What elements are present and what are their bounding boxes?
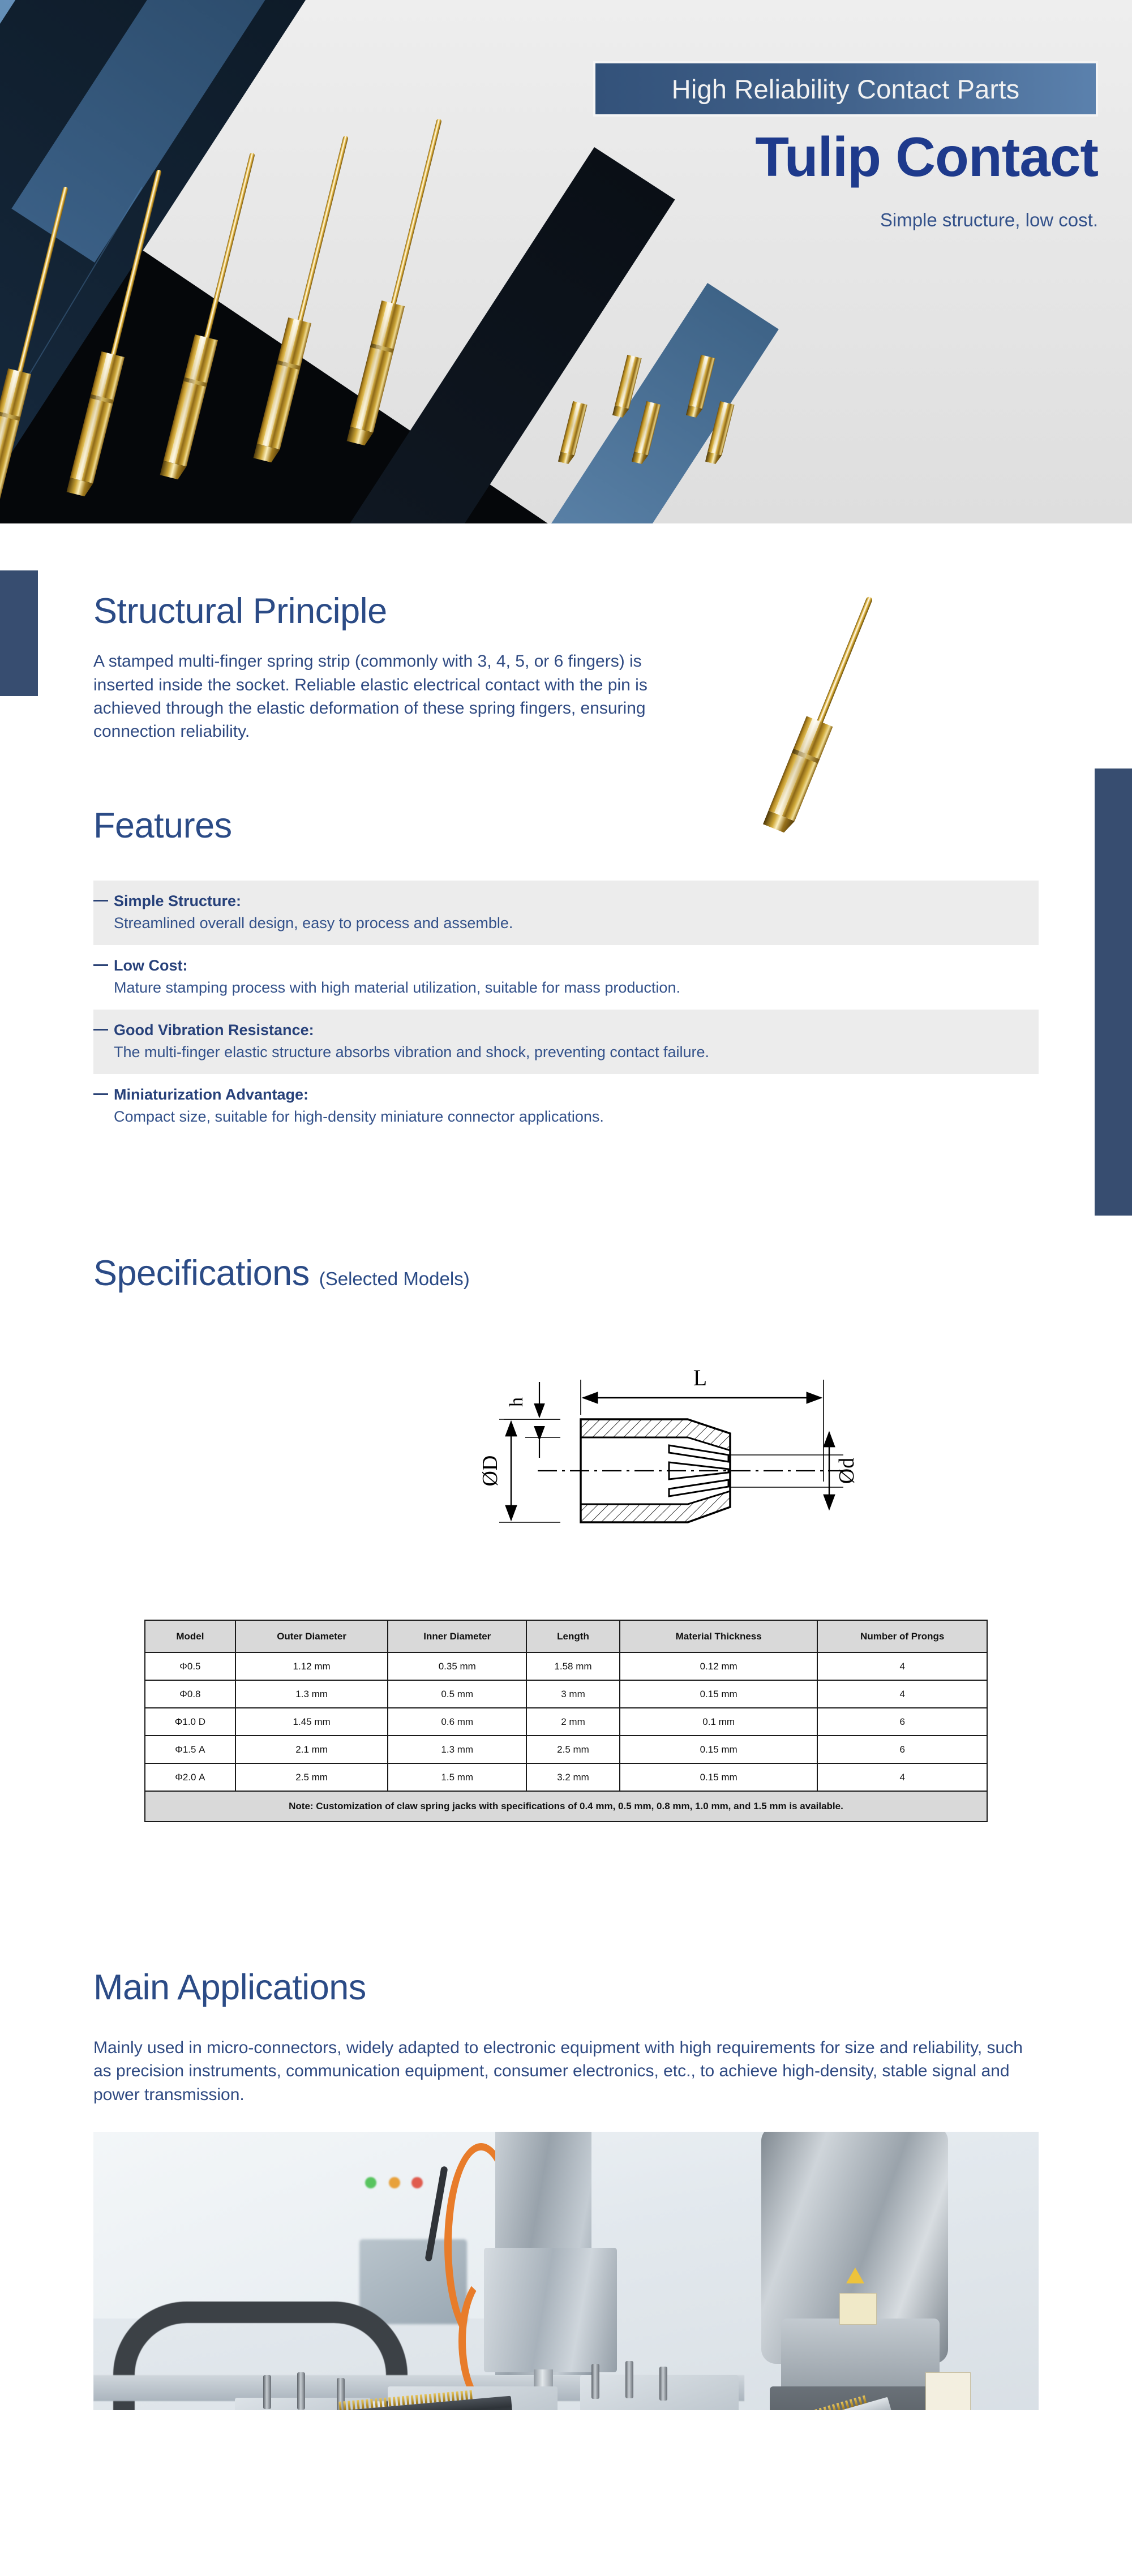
table-row: Φ1.0 D 1.45 mm 0.6 mm 2 mm 0.1 mm 6 bbox=[145, 1708, 987, 1736]
feature-heading-label: Low Cost: bbox=[114, 957, 187, 974]
accent-bar-right bbox=[1095, 768, 1132, 1216]
table-header-row: Model Outer Diameter Inner Diameter Leng… bbox=[145, 1620, 987, 1652]
feature-description: The multi-finger elastic structure absor… bbox=[93, 1044, 1039, 1061]
cell-model: Φ1.0 D bbox=[145, 1708, 235, 1736]
column-header-length: Length bbox=[526, 1620, 620, 1652]
specifications-table: Model Outer Diameter Inner Diameter Leng… bbox=[144, 1620, 988, 1822]
cell-number-of-prongs: 6 bbox=[817, 1708, 987, 1736]
photo-locating-pin bbox=[659, 2367, 667, 2401]
svg-text:L: L bbox=[693, 1365, 707, 1390]
dash-bullet-icon bbox=[93, 900, 108, 901]
photo-indicator-green bbox=[365, 2177, 376, 2188]
photo-locating-pin bbox=[591, 2364, 599, 2399]
cell-inner-diameter: 0.5 mm bbox=[388, 1680, 526, 1708]
feature-heading: Simple Structure: bbox=[93, 892, 1039, 910]
contact-tail bbox=[816, 596, 873, 724]
applications-body: Mainly used in micro-connectors, widely … bbox=[93, 2036, 1044, 2106]
cell-number-of-prongs: 6 bbox=[817, 1736, 987, 1763]
warning-triangle-icon bbox=[846, 2268, 864, 2283]
cell-outer-diameter: 1.12 mm bbox=[235, 1652, 388, 1680]
applications-title: Main Applications bbox=[93, 1968, 366, 2007]
table-row: Φ0.8 1.3 mm 0.5 mm 3 mm 0.15 mm 4 bbox=[145, 1680, 987, 1708]
feature-item: Low Cost: Mature stamping process with h… bbox=[93, 945, 1039, 1010]
cell-outer-diameter: 1.3 mm bbox=[235, 1680, 388, 1708]
dash-bullet-icon bbox=[93, 1093, 108, 1095]
category-badge: High Reliability Contact Parts bbox=[593, 61, 1098, 117]
column-header-material-thickness: Material Thickness bbox=[620, 1620, 817, 1652]
photo-tool-head bbox=[484, 2248, 617, 2372]
svg-text:h: h bbox=[506, 1397, 527, 1407]
photo-machine-label-1 bbox=[839, 2293, 877, 2325]
feature-description: Compact size, suitable for high-density … bbox=[93, 1108, 1039, 1126]
cell-inner-diameter: 1.5 mm bbox=[388, 1763, 526, 1791]
dash-bullet-icon bbox=[93, 1029, 108, 1031]
feature-item: Simple Structure: Streamlined overall de… bbox=[93, 881, 1039, 945]
cell-material-thickness: 0.15 mm bbox=[620, 1680, 817, 1708]
contact-band bbox=[90, 394, 114, 404]
contact-band bbox=[0, 411, 20, 421]
feature-description: Streamlined overall design, easy to proc… bbox=[93, 915, 1039, 932]
cell-material-thickness: 0.15 mm bbox=[620, 1736, 817, 1763]
structural-principle-body: A stamped multi-finger spring strip (com… bbox=[93, 650, 665, 744]
table-row: Φ2.0 A 2.5 mm 1.5 mm 3.2 mm 0.15 mm 4 bbox=[145, 1763, 987, 1791]
column-header-outer-diameter: Outer Diameter bbox=[235, 1620, 388, 1652]
contact-band bbox=[277, 360, 301, 370]
cell-number-of-prongs: 4 bbox=[817, 1652, 987, 1680]
photo-locating-pin bbox=[297, 2372, 305, 2410]
cell-length: 2.5 mm bbox=[526, 1736, 620, 1763]
cell-inner-diameter: 0.6 mm bbox=[388, 1708, 526, 1736]
contact-body bbox=[769, 716, 833, 821]
contact-band bbox=[792, 749, 820, 763]
cell-number-of-prongs: 4 bbox=[817, 1680, 987, 1708]
table-note: Note: Customization of claw spring jacks… bbox=[145, 1791, 987, 1822]
cell-length: 3 mm bbox=[526, 1680, 620, 1708]
contact-band bbox=[370, 344, 394, 353]
column-header-number-of-prongs: Number of Prongs bbox=[817, 1620, 987, 1652]
specifications-title-suffix: (Selected Models) bbox=[319, 1268, 470, 1289]
feature-heading-label: Simple Structure: bbox=[114, 892, 241, 910]
cell-model: Φ0.8 bbox=[145, 1680, 235, 1708]
cell-outer-diameter: 2.5 mm bbox=[235, 1763, 388, 1791]
feature-item: Good Vibration Resistance: The multi-fin… bbox=[93, 1010, 1039, 1074]
cell-inner-diameter: 0.35 mm bbox=[388, 1652, 526, 1680]
column-header-inner-diameter: Inner Diameter bbox=[388, 1620, 526, 1652]
cell-outer-diameter: 2.1 mm bbox=[235, 1736, 388, 1763]
cross-section-diagram: L h ØD Ød bbox=[447, 1312, 911, 1595]
feature-item: Miniaturization Advantage: Compact size,… bbox=[93, 1074, 1039, 1139]
feature-description: Mature stamping process with high materi… bbox=[93, 979, 1039, 997]
photo-locating-pin bbox=[263, 2375, 271, 2409]
specifications-title-main: Specifications bbox=[93, 1253, 310, 1293]
svg-text:ØD: ØD bbox=[478, 1456, 502, 1487]
cell-length: 2 mm bbox=[526, 1708, 620, 1736]
feature-heading: Low Cost: bbox=[93, 957, 1039, 974]
accent-bar-left bbox=[0, 570, 38, 696]
features-list: Simple Structure: Streamlined overall de… bbox=[93, 881, 1039, 1139]
technical-drawing: L h ØD Ød bbox=[447, 1312, 911, 1595]
cell-length: 3.2 mm bbox=[526, 1763, 620, 1791]
feature-heading: Miniaturization Advantage: bbox=[93, 1086, 1039, 1104]
photo-bottom-fade bbox=[93, 2410, 1039, 2454]
category-badge-label: High Reliability Contact Parts bbox=[672, 74, 1020, 105]
feature-heading-label: Miniaturization Advantage: bbox=[114, 1086, 308, 1104]
column-header-model: Model bbox=[145, 1620, 235, 1652]
structural-principle-title: Structural Principle bbox=[93, 592, 693, 631]
cell-outer-diameter: 1.45 mm bbox=[235, 1708, 388, 1736]
tulip-contact-illustration bbox=[763, 592, 883, 835]
table-row: Φ0.5 1.12 mm 0.35 mm 1.58 mm 0.12 mm 4 bbox=[145, 1652, 987, 1680]
cell-length: 1.58 mm bbox=[526, 1652, 620, 1680]
application-photo bbox=[93, 2132, 1039, 2454]
cell-material-thickness: 0.12 mm bbox=[620, 1652, 817, 1680]
cell-material-thickness: 0.1 mm bbox=[620, 1708, 817, 1736]
specifications-title: Specifications (Selected Models) bbox=[93, 1254, 470, 1293]
hero-banner: High Reliability Contact Parts Tulip Con… bbox=[0, 0, 1132, 523]
table-note-row: Note: Customization of claw spring jacks… bbox=[145, 1791, 987, 1822]
photo-locating-pin bbox=[625, 2361, 633, 2398]
svg-text:Ød: Ød bbox=[835, 1458, 859, 1484]
photo-indicator-red bbox=[411, 2177, 423, 2188]
dash-bullet-icon bbox=[93, 964, 108, 966]
photo-indicator-amber bbox=[389, 2177, 400, 2188]
cell-number-of-prongs: 4 bbox=[817, 1763, 987, 1791]
structural-principle-section: Structural Principle A stamped multi-fin… bbox=[93, 592, 693, 744]
product-title: Tulip Contact bbox=[532, 129, 1098, 184]
features-title: Features bbox=[93, 806, 232, 845]
cell-model: Φ1.5 A bbox=[145, 1736, 235, 1763]
product-tagline: Simple structure, low cost. bbox=[532, 209, 1098, 231]
cell-material-thickness: 0.15 mm bbox=[620, 1763, 817, 1791]
table-row: Φ1.5 A 2.1 mm 1.3 mm 2.5 mm 0.15 mm 6 bbox=[145, 1736, 987, 1763]
feature-heading: Good Vibration Resistance: bbox=[93, 1021, 1039, 1039]
contact-band bbox=[183, 377, 207, 387]
cell-model: Φ2.0 A bbox=[145, 1763, 235, 1791]
cell-inner-diameter: 1.3 mm bbox=[388, 1736, 526, 1763]
cell-model: Φ0.5 bbox=[145, 1652, 235, 1680]
feature-heading-label: Good Vibration Resistance: bbox=[114, 1021, 314, 1039]
